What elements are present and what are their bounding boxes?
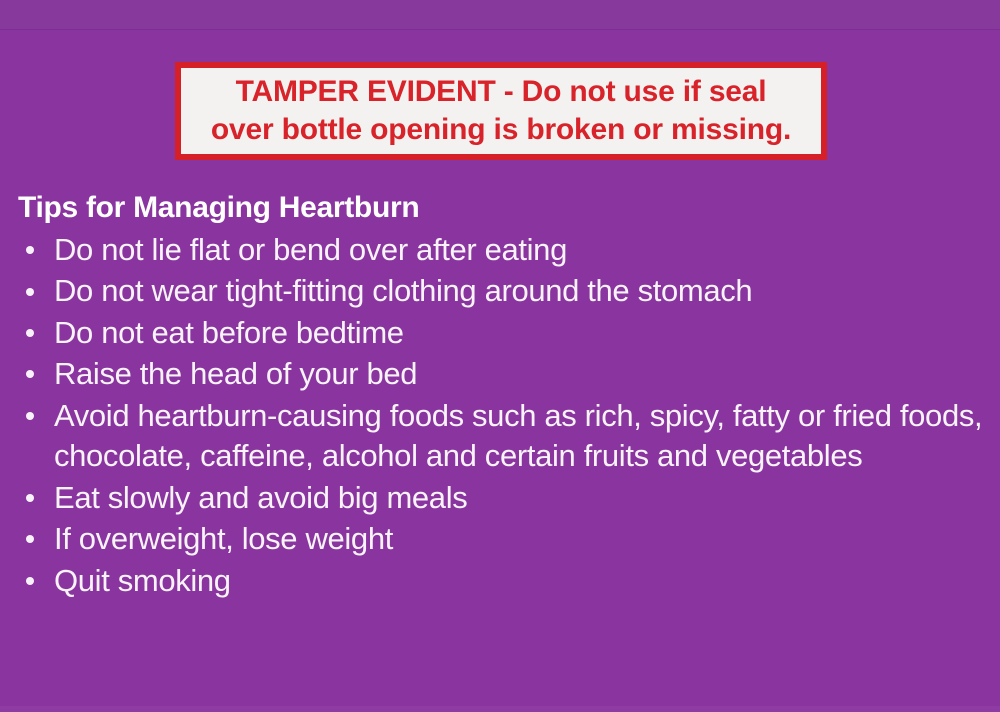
bullet-icon bbox=[26, 370, 34, 378]
bullet-icon bbox=[26, 246, 34, 254]
tips-heading: Tips for Managing Heartburn bbox=[18, 190, 986, 226]
list-item: Avoid heartburn-causing foods such as ri… bbox=[18, 396, 986, 477]
list-item-text: Do not eat before bedtime bbox=[54, 315, 404, 350]
list-item-text: If overweight, lose weight bbox=[54, 521, 393, 556]
bullet-icon bbox=[26, 535, 34, 543]
list-item: Quit smoking bbox=[18, 561, 986, 601]
list-item: Do not eat before bedtime bbox=[18, 313, 986, 353]
label-top-seam bbox=[0, 0, 1000, 30]
list-item-text: Raise the head of your bed bbox=[54, 356, 417, 391]
tamper-evident-warning-text: TAMPER EVIDENT - Do not use if seal over… bbox=[205, 73, 797, 150]
bullet-icon bbox=[26, 494, 34, 502]
list-item: If overweight, lose weight bbox=[18, 519, 986, 559]
list-item-text: Do not lie flat or bend over after eatin… bbox=[54, 232, 567, 267]
tips-section: Tips for Managing Heartburn Do not lie f… bbox=[18, 190, 986, 602]
list-item-text: Quit smoking bbox=[54, 563, 231, 598]
tips-list: Do not lie flat or bend over after eatin… bbox=[18, 230, 986, 601]
label-bottom-seam bbox=[0, 706, 1000, 712]
bullet-icon bbox=[26, 577, 34, 585]
list-item: Eat slowly and avoid big meals bbox=[18, 478, 986, 518]
list-item-text: Do not wear tight-fitting clothing aroun… bbox=[54, 273, 752, 308]
list-item: Do not wear tight-fitting clothing aroun… bbox=[18, 271, 986, 311]
tamper-evident-warning-box: TAMPER EVIDENT - Do not use if seal over… bbox=[175, 62, 827, 160]
list-item-text: Avoid heartburn-causing foods such as ri… bbox=[54, 398, 982, 473]
bullet-icon bbox=[26, 288, 34, 296]
drug-facts-label-panel: TAMPER EVIDENT - Do not use if seal over… bbox=[0, 0, 1000, 712]
bullet-icon bbox=[26, 329, 34, 337]
list-item: Do not lie flat or bend over after eatin… bbox=[18, 230, 986, 270]
list-item-text: Eat slowly and avoid big meals bbox=[54, 480, 467, 515]
list-item: Raise the head of your bed bbox=[18, 354, 986, 394]
bullet-icon bbox=[26, 412, 34, 420]
